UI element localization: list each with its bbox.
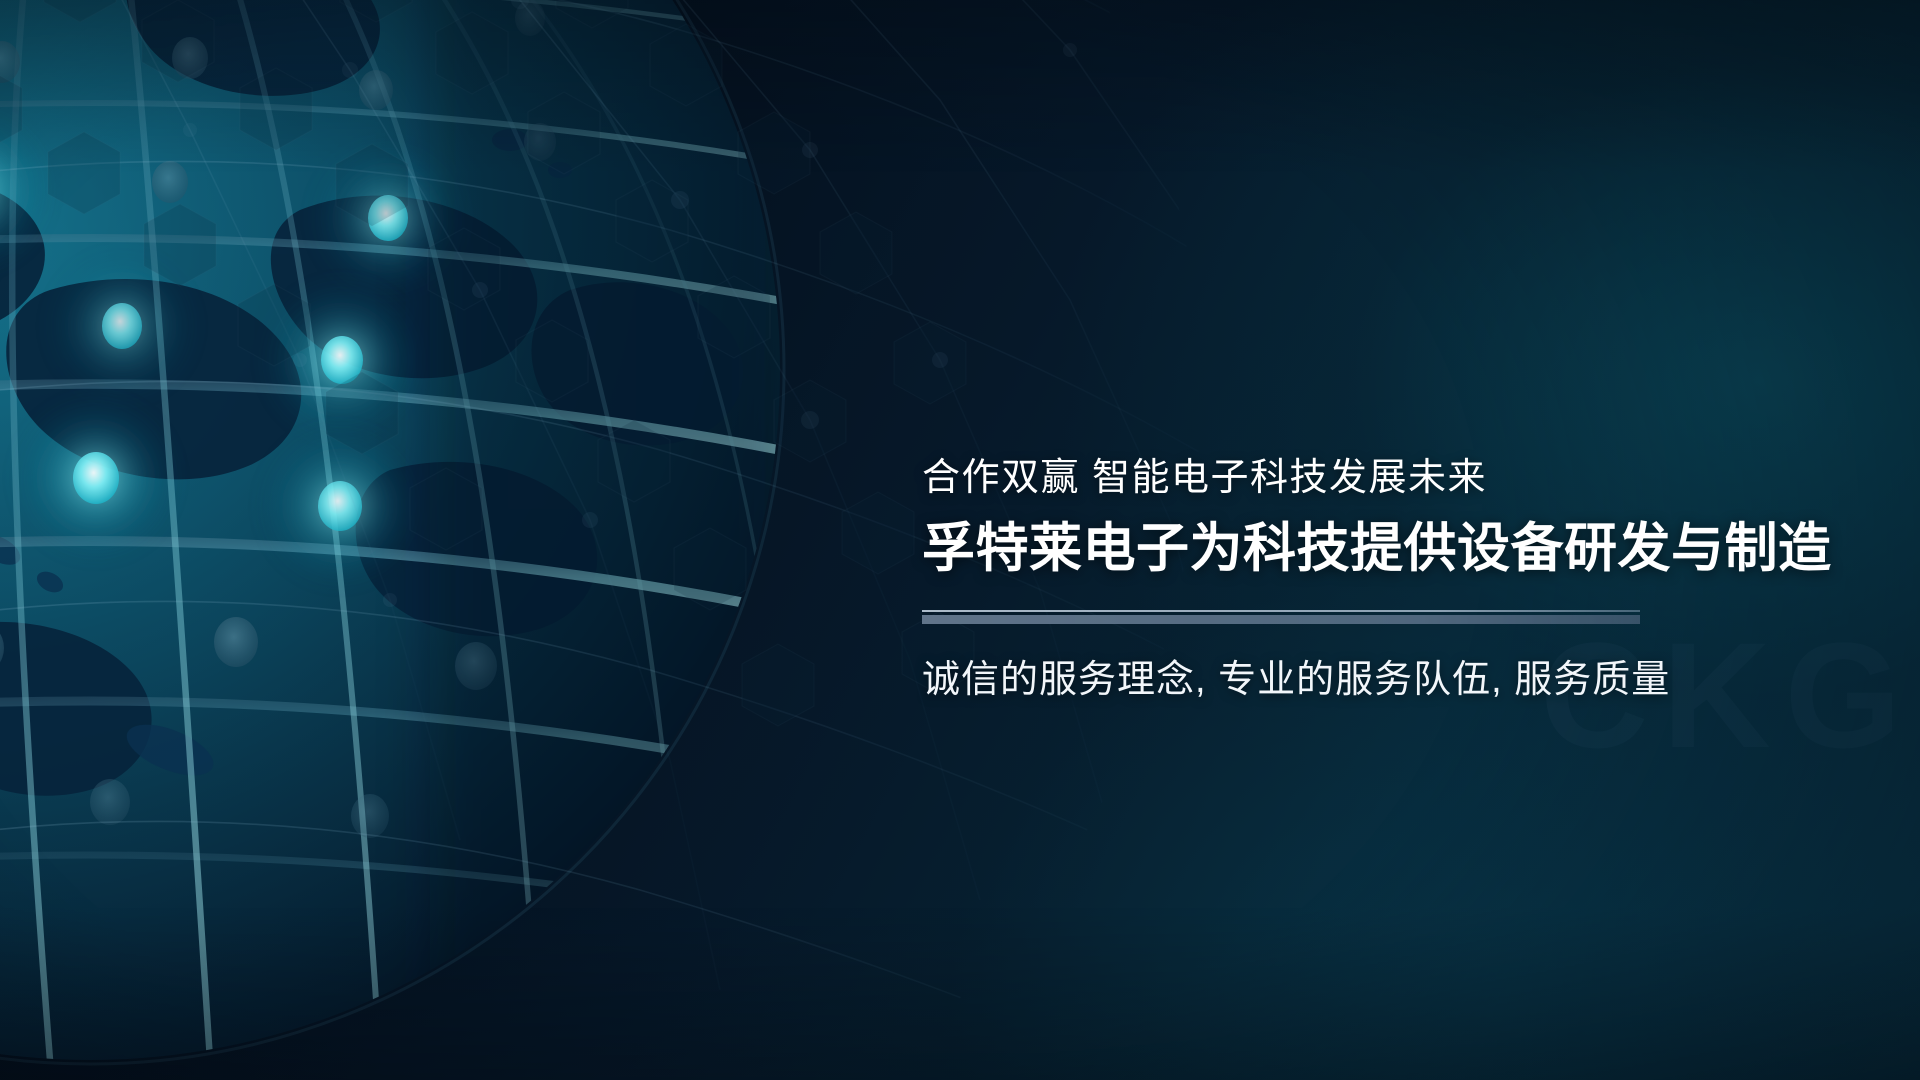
hero-eyebrow: 合作双赢 智能电子科技发展未来 <box>922 455 1842 503</box>
divider-hairline <box>922 610 1640 612</box>
hero-text-block: 合作双赢 智能电子科技发展未来 孚特莱电子为科技提供设备研发与制造 诚信的服务理… <box>922 455 1842 705</box>
hero-banner: CKG 合作双赢 智能电子科技发展未来 孚特莱电子为科技提供设备研发与制造 诚信… <box>0 0 1920 1080</box>
hero-headline: 孚特莱电子为科技提供设备研发与制造 <box>922 517 1842 582</box>
divider-bar <box>922 615 1640 624</box>
hero-tagline: 诚信的服务理念, 专业的服务队伍, 服务质量 <box>922 657 1842 705</box>
hero-divider <box>922 610 1640 624</box>
